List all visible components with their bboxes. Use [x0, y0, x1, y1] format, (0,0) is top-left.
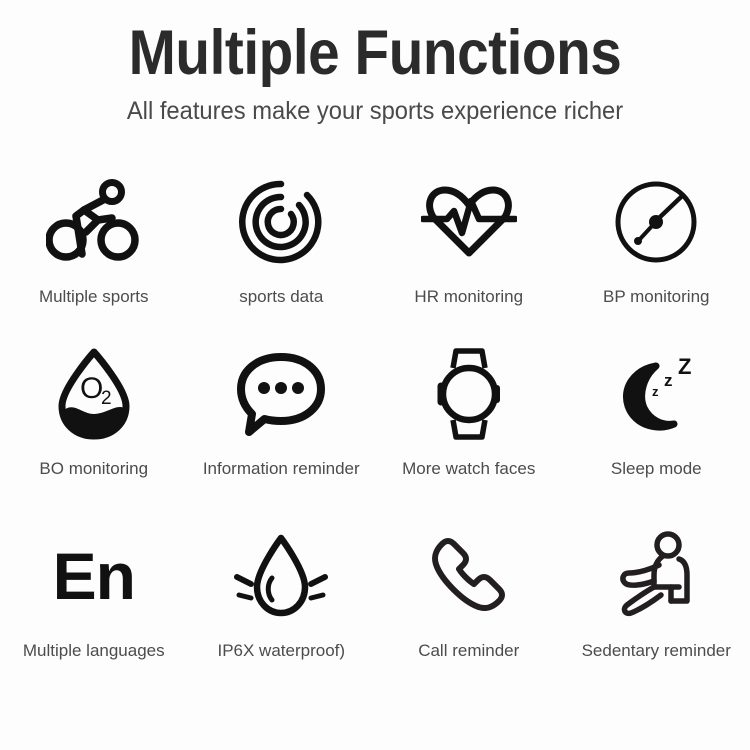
feature-label: Call reminder	[414, 640, 523, 662]
phone-handset-icon	[424, 528, 514, 624]
feature-item-sleep-mode[interactable]: z z Z Sleep mode	[563, 346, 750, 528]
multiple-functions-page: Multiple Functions All features make you…	[0, 0, 750, 750]
feature-label: IP6X waterproof)	[213, 640, 349, 662]
feature-item-bo-monitoring[interactable]: O 2 BO monitoring	[0, 346, 188, 528]
cycling-icon	[46, 174, 142, 270]
feature-item-call-reminder[interactable]: Call reminder	[375, 528, 563, 700]
feature-row: En Multiple languages IP6X waterproof)	[0, 528, 750, 700]
feature-item-more-watch-faces[interactable]: More watch faces	[375, 346, 563, 528]
feature-item-multiple-languages[interactable]: En Multiple languages	[0, 528, 188, 700]
waterproof-droplet-icon	[231, 528, 331, 624]
feature-row: Multiple sports sports data	[0, 174, 750, 346]
feature-item-sports-data[interactable]: sports data	[188, 174, 376, 346]
page-subtitle: All features make your sports experience…	[19, 97, 732, 126]
feature-label: Multiple languages	[19, 640, 169, 662]
feature-grid: Multiple sports sports data	[0, 174, 750, 700]
smartwatch-icon	[431, 346, 507, 442]
feature-row: O 2 BO monitoring Information reminder	[0, 346, 750, 528]
feature-label: BP monitoring	[599, 286, 713, 308]
gauge-icon	[611, 174, 701, 270]
speech-bubble-icon	[235, 346, 327, 442]
z-medium: z	[664, 371, 673, 390]
z-large: Z	[678, 354, 691, 379]
page-title: Multiple Functions	[38, 22, 713, 85]
svg-text:O: O	[80, 372, 103, 405]
feature-label: Multiple sports	[35, 286, 153, 308]
feature-item-multiple-sports[interactable]: Multiple sports	[0, 174, 188, 346]
z-small: z	[652, 384, 659, 399]
feature-label: HR monitoring	[410, 286, 527, 308]
oxygen-droplet-icon: O 2	[50, 346, 138, 442]
feature-label: sports data	[235, 286, 327, 308]
sedentary-person-icon	[609, 528, 703, 624]
feature-item-sedentary-reminder[interactable]: Sedentary reminder	[563, 528, 750, 700]
feature-item-bp-monitoring[interactable]: BP monitoring	[563, 174, 750, 346]
svg-text:2: 2	[101, 388, 112, 409]
activity-rings-icon	[235, 174, 327, 270]
header: Multiple Functions All features make you…	[0, 0, 750, 126]
feature-label: More watch faces	[398, 458, 539, 480]
language-en-icon: En	[53, 528, 135, 624]
feature-item-ip6x-waterproof[interactable]: IP6X waterproof)	[188, 528, 376, 700]
feature-label: Sleep mode	[607, 458, 706, 480]
feature-item-hr-monitoring[interactable]: HR monitoring	[375, 174, 563, 346]
feature-label: Information reminder	[199, 458, 364, 480]
feature-label: BO monitoring	[35, 458, 152, 480]
feature-label: Sedentary reminder	[578, 640, 735, 662]
feature-item-information-reminder[interactable]: Information reminder	[188, 346, 376, 528]
moon-sleep-icon: z z Z	[608, 346, 704, 442]
heart-pulse-icon	[421, 174, 517, 270]
en-glyph: En	[53, 543, 135, 609]
